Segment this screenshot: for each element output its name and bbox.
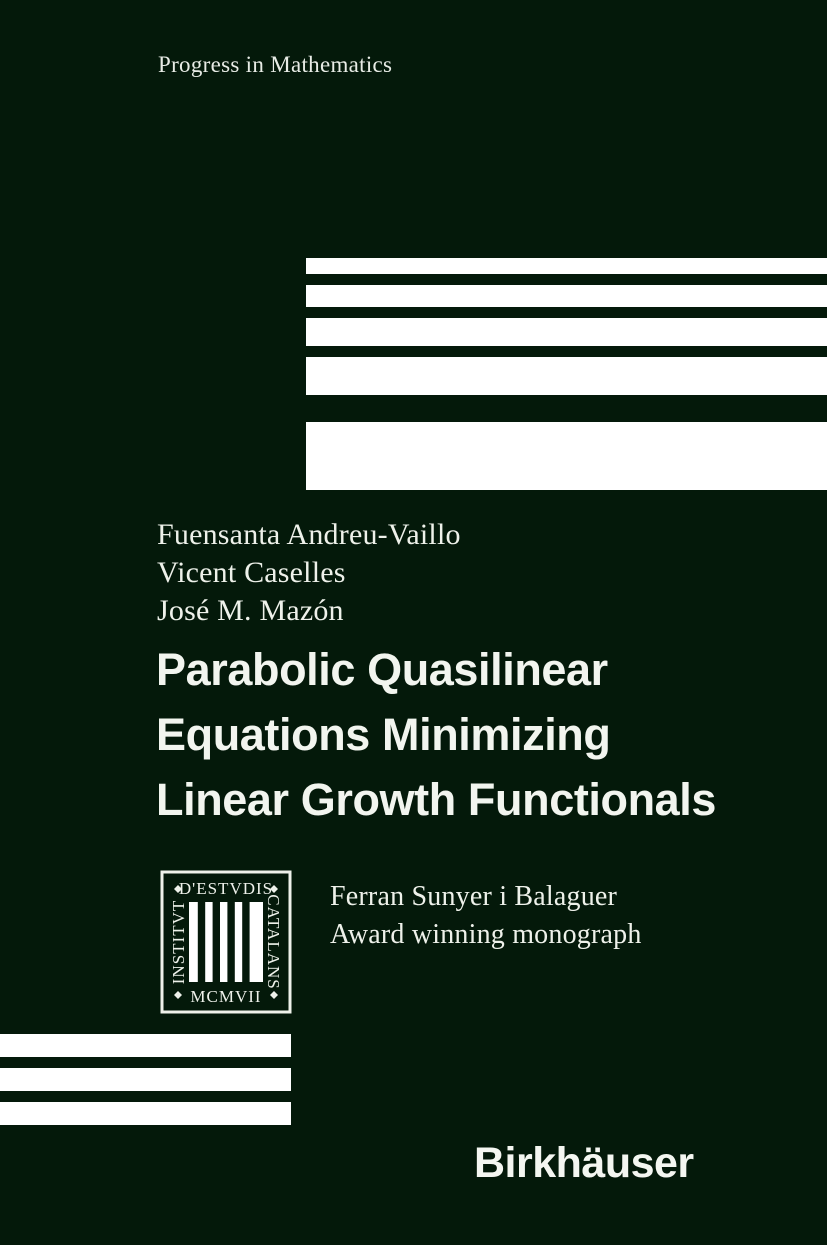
title-line: Linear Growth Functionals: [156, 767, 827, 832]
decor-bar-bottom: [0, 1102, 291, 1125]
logo-left-text: INSTITVT: [169, 900, 188, 984]
author-name: Vicent Caselles: [157, 554, 757, 592]
author-name: Fuensanta Andreu-Vaillo: [157, 516, 757, 554]
publisher-logo: Birkhäuser: [474, 1139, 694, 1188]
series-title: Progress in Mathematics: [158, 52, 392, 78]
logo-right-text: CATALANS: [264, 894, 283, 989]
decor-bar-top: [306, 357, 827, 395]
decor-bar-top: [306, 285, 827, 307]
decor-bar-bottom: [0, 1034, 291, 1057]
decor-bar-top: [306, 258, 827, 274]
logo-top-text: D'ESTVDIS: [179, 879, 273, 898]
decor-bar-top: [306, 422, 827, 490]
award-line: Award winning monograph: [330, 916, 750, 954]
logo-stripes: [189, 902, 263, 982]
author-name: José M. Mazón: [157, 592, 757, 630]
logo-bottom-text: MCMVII: [190, 987, 261, 1006]
institut-destudis-catalans-logo: D'ESTVDIS MCMVII INSTITVT CATALANS: [159, 869, 293, 1015]
decor-bar-bottom: [0, 1068, 291, 1091]
author-list: Fuensanta Andreu-Vaillo Vicent Caselles …: [157, 516, 757, 630]
award-note: Ferran Sunyer i Balaguer Award winning m…: [330, 878, 750, 954]
book-cover: Progress in Mathematics Fuensanta Andreu…: [0, 0, 827, 1245]
title-line: Equations Minimizing: [156, 702, 827, 767]
book-title: Parabolic Quasilinear Equations Minimizi…: [156, 637, 827, 832]
title-line: Parabolic Quasilinear: [156, 637, 827, 702]
award-line: Ferran Sunyer i Balaguer: [330, 878, 750, 916]
decor-bar-top: [306, 318, 827, 346]
